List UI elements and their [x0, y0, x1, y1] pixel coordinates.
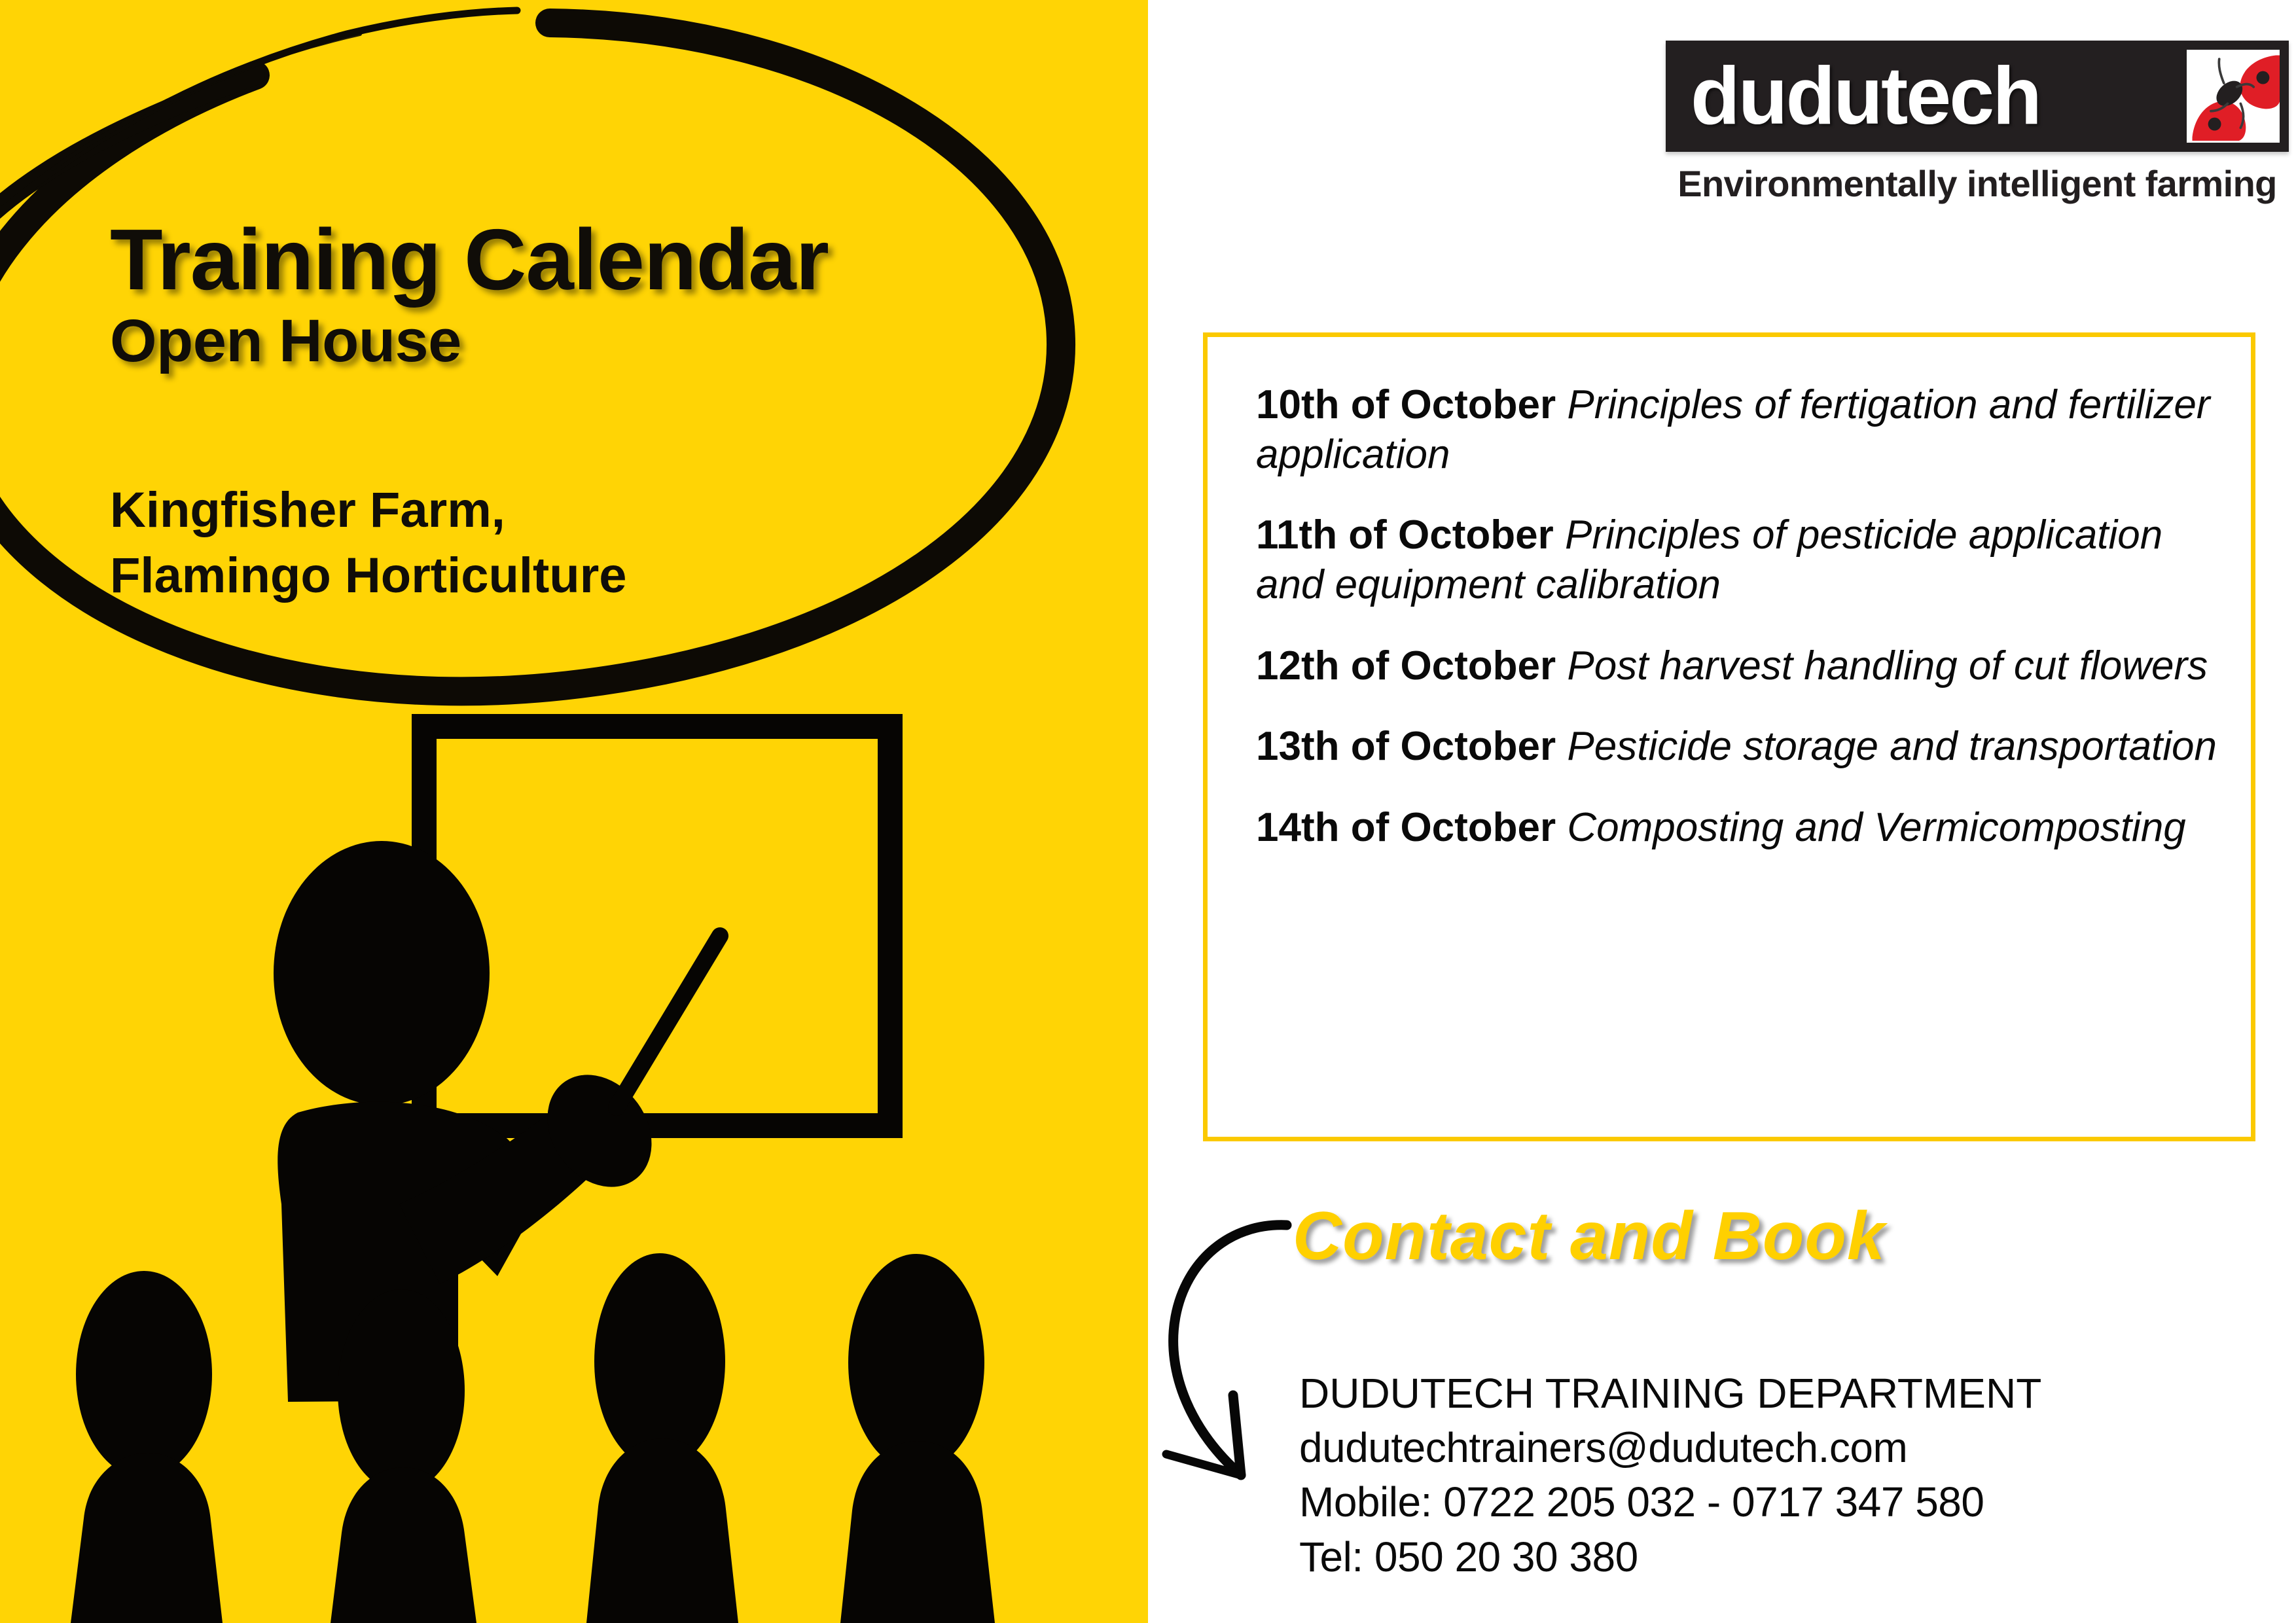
- schedule-date: 10th of October: [1256, 382, 1556, 427]
- audience-body: [586, 1438, 738, 1623]
- schedule-item: 11th of October Principles of pesticide …: [1256, 510, 2229, 609]
- schedule-date: 13th of October: [1256, 724, 1556, 769]
- audience-head: [848, 1254, 984, 1471]
- schedule-list: 10th of October Principles of fertigatio…: [1256, 380, 2229, 852]
- venue-line-1: Kingfisher Farm,: [110, 478, 961, 543]
- poster-root: Training Calendar Open House Kingfisher …: [0, 0, 2296, 1623]
- schedule-topic: Post harvest handling of cut flowers: [1567, 643, 2208, 688]
- schedule-box: 10th of October Principles of fertigatio…: [1203, 332, 2255, 1141]
- contact-heading: Contact and Book: [1293, 1198, 1886, 1275]
- logo-wordmark: dudutech: [1691, 56, 2040, 137]
- logo-tagline: Environmentally intelligent farming: [1666, 162, 2289, 205]
- contact-department: DUDUTECH TRAINING DEPARTMENT: [1299, 1366, 2248, 1421]
- title-block: Training Calendar Open House: [110, 216, 961, 372]
- audience-body: [331, 1467, 476, 1623]
- schedule-topic: Composting and Vermicomposting: [1567, 805, 2185, 850]
- audience-body: [840, 1441, 995, 1623]
- classroom-illustration: [0, 707, 1148, 1623]
- schedule-item: 12th of October Post harvest handling of…: [1256, 641, 2229, 691]
- contact-mobile[interactable]: Mobile: 0722 205 032 - 0717 347 580: [1299, 1475, 2248, 1529]
- schedule-item: 14th of October Composting and Vermicomp…: [1256, 803, 2229, 853]
- dudutech-logo: dudutech Environmentally intelligent far…: [1666, 41, 2289, 230]
- whiteboard-icon: [424, 726, 890, 1126]
- logo-bar: dudutech: [1666, 41, 2289, 152]
- audience-head: [76, 1271, 212, 1478]
- venue-line-2: Flamingo Horticulture: [110, 543, 961, 609]
- audience-head: [594, 1253, 725, 1469]
- schedule-date: 12th of October: [1256, 643, 1556, 688]
- audience-body: [71, 1453, 223, 1623]
- page-title: Training Calendar: [110, 216, 961, 304]
- venue-block: Kingfisher Farm, Flamingo Horticulture: [110, 478, 961, 609]
- page-subtitle: Open House: [110, 310, 961, 373]
- audience-silhouettes-icon: [71, 1253, 995, 1623]
- schedule-date: 11th of October: [1256, 512, 1554, 558]
- audience-head: [338, 1289, 465, 1492]
- contact-tel[interactable]: Tel: 050 20 30 380: [1299, 1530, 2248, 1584]
- left-yellow-panel: Training Calendar Open House Kingfisher …: [0, 0, 1148, 1623]
- schedule-item: 13th of October Pesticide storage and tr…: [1256, 722, 2229, 772]
- schedule-topic: Pesticide storage and transportation: [1567, 724, 2217, 769]
- contact-email[interactable]: dudutechtrainers@dudutech.com: [1299, 1421, 2248, 1475]
- ladybug-icon: [2187, 50, 2280, 143]
- contact-details: DUDUTECH TRAINING DEPARTMENT dudutechtra…: [1299, 1366, 2248, 1584]
- schedule-item: 10th of October Principles of fertigatio…: [1256, 380, 2229, 479]
- schedule-date: 14th of October: [1256, 805, 1556, 850]
